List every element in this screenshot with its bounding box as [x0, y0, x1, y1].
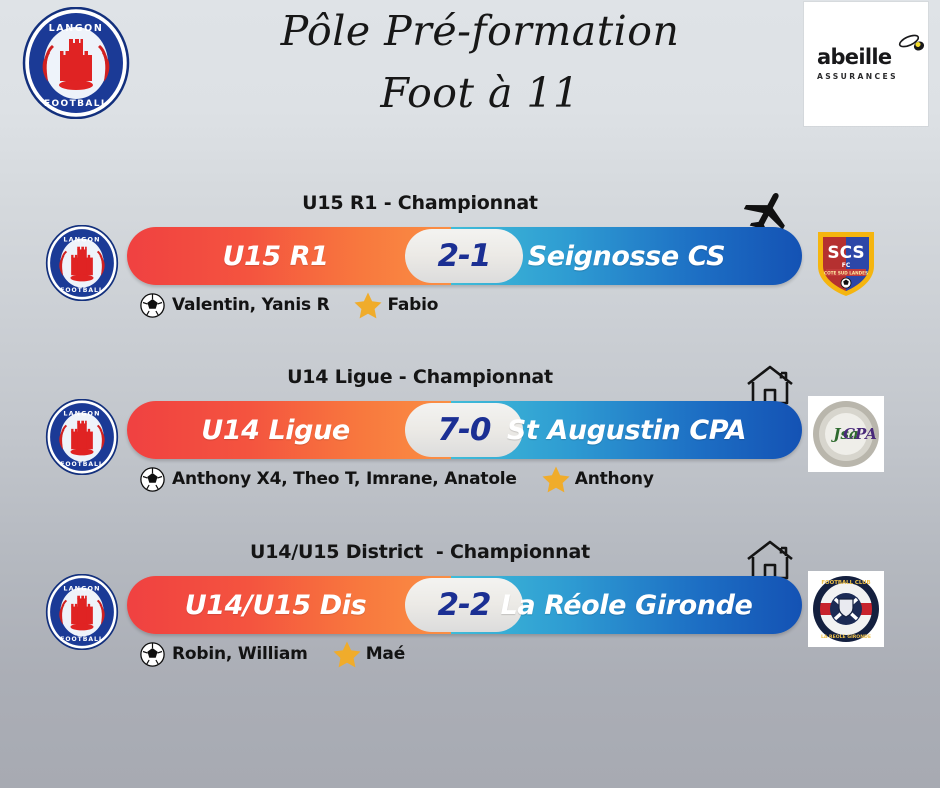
- match-row: U14 Ligue - Championnat: [0, 366, 940, 508]
- soccer-ball-icon: [140, 642, 165, 667]
- man-of-the-match-text: Anthony: [575, 469, 654, 489]
- soccer-ball-icon: [140, 467, 165, 492]
- svg-text:LANGON: LANGON: [63, 409, 100, 417]
- star-icon: [541, 465, 571, 493]
- svg-text:FOOTBALL: FOOTBALL: [44, 99, 108, 109]
- goalscorers-text: Anthony X4, Theo T, Imrane, Anatole: [172, 469, 517, 489]
- goalscorers-text: Valentin, Yanis R: [172, 295, 329, 315]
- svg-text:FC: FC: [842, 262, 851, 269]
- soccer-ball-icon: [140, 293, 165, 318]
- svg-text:LANGON: LANGON: [49, 23, 104, 34]
- sponsor-logo: abeille ASSURANCES: [804, 2, 928, 126]
- results-poster: LANGON FOOTBALL Pôle Pré-formation Foot …: [0, 0, 940, 788]
- home-team-name: U14 Ligue: [127, 401, 424, 459]
- scoreline-bar: U14 Ligue 7-0 St Augustin CPA: [127, 401, 802, 459]
- svg-text:FOOTBALL: FOOTBALL: [60, 287, 103, 294]
- away-team-name: La Réole Gironde: [451, 576, 802, 634]
- scorers-line: Anthony X4, Theo T, Imrane, Anatole Anth…: [140, 465, 654, 493]
- jsa-cpa-logo-icon: Jsa CPA: [808, 396, 884, 472]
- langon-football-crest-icon: LANGON FOOTBALL: [22, 7, 130, 119]
- svg-text:LANGON: LANGON: [63, 584, 100, 592]
- home-team-name: U15 R1: [127, 227, 424, 285]
- svg-text:SCS: SCS: [827, 243, 864, 263]
- seignosse-cs-shield-icon: SCS FC COTE SUD LANDES: [808, 222, 884, 298]
- svg-text:FOOTBALL: FOOTBALL: [60, 461, 103, 468]
- svg-text:CPA: CPA: [843, 425, 877, 443]
- man-of-the-match-text: Maé: [366, 644, 405, 664]
- sponsor-subtitle: ASSURANCES: [817, 73, 921, 81]
- match-title: U14/U15 District - Championnat: [120, 541, 720, 563]
- scoreline-bar: U15 R1 2-1 Seignosse CS: [127, 227, 802, 285]
- home-team-name: U14/U15 Dis: [127, 576, 424, 634]
- poster-title: Pôle Pré-formation Foot à 11: [200, 8, 760, 117]
- goalscorers-text: Robin, William: [172, 644, 308, 664]
- title-line-1: Pôle Pré-formation: [200, 8, 760, 56]
- match-row: U14/U15 District - Championnat: [0, 541, 940, 683]
- poster-header: LANGON FOOTBALL Pôle Pré-formation Foot …: [0, 0, 940, 152]
- man-of-the-match-text: Fabio: [387, 295, 438, 315]
- scoreline-bar: U14/U15 Dis 2-2 La Réole Gironde: [127, 576, 802, 634]
- svg-text:LA REOLE GIRONDE: LA REOLE GIRONDE: [821, 634, 871, 640]
- langon-football-crest-icon: LANGON FOOTBALL: [44, 399, 120, 475]
- svg-text:FOOTBALL: FOOTBALL: [60, 636, 103, 643]
- away-team-name: St Augustin CPA: [451, 401, 802, 459]
- star-icon: [353, 291, 383, 319]
- svg-text:LANGON: LANGON: [63, 235, 100, 243]
- star-icon: [332, 640, 362, 668]
- langon-football-crest-icon: LANGON FOOTBALL: [44, 574, 120, 650]
- abeille-bee-icon: [897, 33, 927, 57]
- scorers-line: Valentin, Yanis R Fabio: [140, 291, 438, 319]
- match-title: U14 Ligue - Championnat: [120, 366, 720, 388]
- away-team-name: Seignosse CS: [451, 227, 802, 285]
- match-row: U15 R1 - Championnat: [0, 192, 940, 334]
- scorers-line: Robin, William Maé: [140, 640, 405, 668]
- title-line-2: Foot à 11: [200, 70, 760, 118]
- match-title: U15 R1 - Championnat: [120, 192, 720, 214]
- svg-text:FOOTBALL CLUB: FOOTBALL CLUB: [821, 580, 870, 586]
- langon-football-crest-icon: LANGON FOOTBALL: [44, 225, 120, 301]
- svg-text:COTE SUD LANDES: COTE SUD LANDES: [824, 271, 868, 276]
- la-reole-gironde-crest-icon: FOOTBALL CLUB LA REOLE GIRONDE: [808, 571, 884, 647]
